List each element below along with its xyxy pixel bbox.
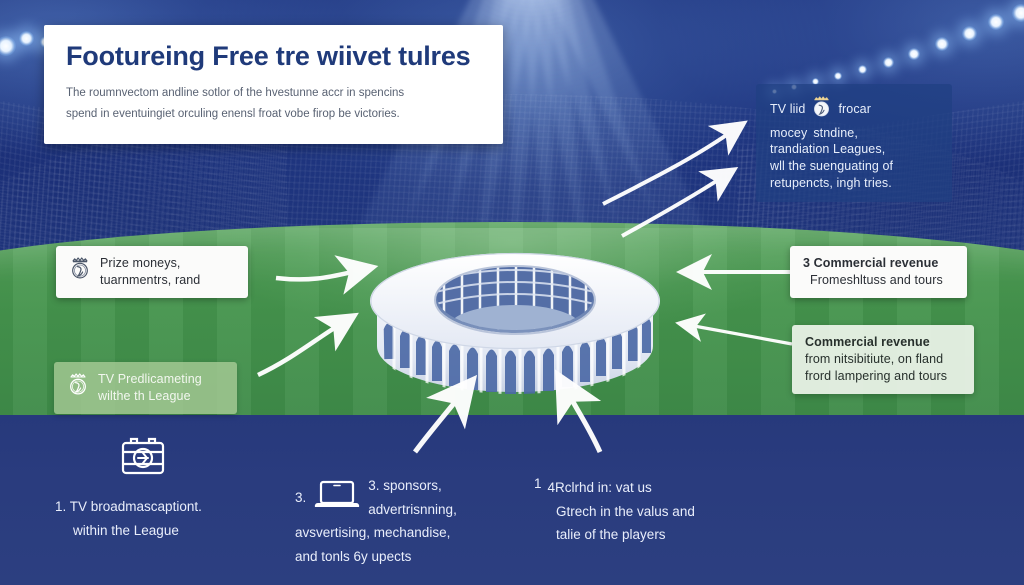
header-subtitle: The roumnvectom andline sotlor of the hv… [66, 83, 481, 126]
club-crest-icon [69, 256, 91, 287]
card-tv-broadcast-top[interactable]: TV liid frocar mocey stndine, trandiatio… [756, 84, 952, 202]
header-panel: Footureing Free tre wiivet tulres The ro… [44, 25, 503, 144]
legend-item-sponsors-line1: 3. sponsors, [368, 474, 457, 498]
legend-item-player-value-line2: Gtrech in the valus and [534, 500, 764, 524]
club-crest-icon [811, 95, 832, 125]
laptop-icon [312, 478, 362, 517]
legend-item-player-value[interactable]: 1 4Rclrhd in: vat us Gtrech in the valus… [534, 476, 764, 547]
legend-item-sponsors-line3: avsvertising, mechandise, [295, 521, 545, 545]
card-tv-broadcast-line2: frocar [838, 101, 871, 118]
card-tv-league-text: TV Predlicameting wilthe th League [98, 371, 202, 405]
card-tv-broadcast-line7: retupencts, ingh tries. [770, 175, 938, 192]
legend-item-sponsors-text-bottom: avsvertising, mechandise, and tonls 6y u… [295, 521, 545, 568]
card-prize-money-line1: Prize moneys, [100, 255, 200, 272]
card-commercial-revenue-2-line1: from nitsibitiute, on fland [805, 351, 961, 368]
club-crest-icon [67, 372, 89, 403]
card-prize-money-text: Prize moneys, tuarnmentrs, rand [100, 255, 200, 289]
card-commercial-revenue-1-line1: Fromeshltuss and tours [803, 272, 954, 289]
card-tv-league-line2: wilthe th League [98, 388, 202, 405]
header-subtitle-line2: spend in eventuingiet orculing enensl fr… [66, 104, 481, 125]
legend-item-sponsors[interactable]: 3. 3. sponsors, advertrisnning, avsverti… [295, 474, 545, 569]
page-title: Footureing Free tre wiivet tulres [66, 41, 481, 72]
header-subtitle-line1: The roumnvectom andline sotlor of the hv… [66, 83, 481, 104]
infographic-canvas: Footureing Free tre wiivet tulres The ro… [0, 0, 1024, 585]
legend-item-sponsors-line4: and tonls 6y upects [295, 545, 545, 569]
card-tv-broadcast-line1: TV liid [770, 101, 805, 118]
legend-item-player-value-line3: talie of the players [534, 523, 764, 547]
legend-item-player-value-number: 1 [534, 476, 542, 491]
card-prize-money-line2: tuarnmentrs, rand [100, 272, 200, 289]
card-commercial-revenue-1[interactable]: 3 Commercial revenue Fromeshltuss and to… [790, 246, 967, 298]
card-commercial-revenue-2-line2: frord lampering and tours [805, 368, 961, 385]
legend-item-tv-broadcast-line1: 1. TV broadmascaptiont. [55, 495, 270, 519]
legend-item-tv-broadcast-line2: within the League [55, 519, 270, 543]
card-tv-broadcast-line4: stndine, [813, 125, 858, 142]
card-tv-broadcast-line6: wll the suenguating of [770, 158, 938, 175]
card-commercial-revenue-1-title: 3 Commercial revenue [803, 255, 954, 272]
card-tv-league-line1: TV Predlicameting [98, 371, 202, 388]
legend-item-sponsors-text-top: 3. sponsors, advertrisnning, [368, 474, 457, 521]
card-commercial-revenue-2[interactable]: Commercial revenue from nitsibitiute, on… [792, 325, 974, 394]
card-prize-money[interactable]: Prize moneys, tuarnmentrs, rand [56, 246, 248, 298]
legend-item-tv-broadcast[interactable]: 1. TV broadmascaptiont. within the Leagu… [55, 432, 270, 542]
card-tv-league[interactable]: TV Predlicameting wilthe th League [54, 362, 237, 414]
stadium-illustration [370, 243, 660, 418]
legend-item-tv-broadcast-text: 1. TV broadmascaptiont. within the Leagu… [55, 495, 270, 542]
card-tv-broadcast-line5: trandiation Leagues, [770, 141, 938, 158]
legend-item-sponsors-line2: advertrisnning, [368, 498, 457, 522]
legend-item-player-value-line1: 4Rclrhd in: vat us [548, 476, 652, 500]
card-commercial-revenue-2-title: Commercial revenue [805, 334, 961, 351]
briefcase-icon [117, 432, 270, 485]
card-tv-broadcast-line3: mocey [770, 125, 807, 142]
legend-item-sponsors-number: 3. [295, 490, 306, 505]
